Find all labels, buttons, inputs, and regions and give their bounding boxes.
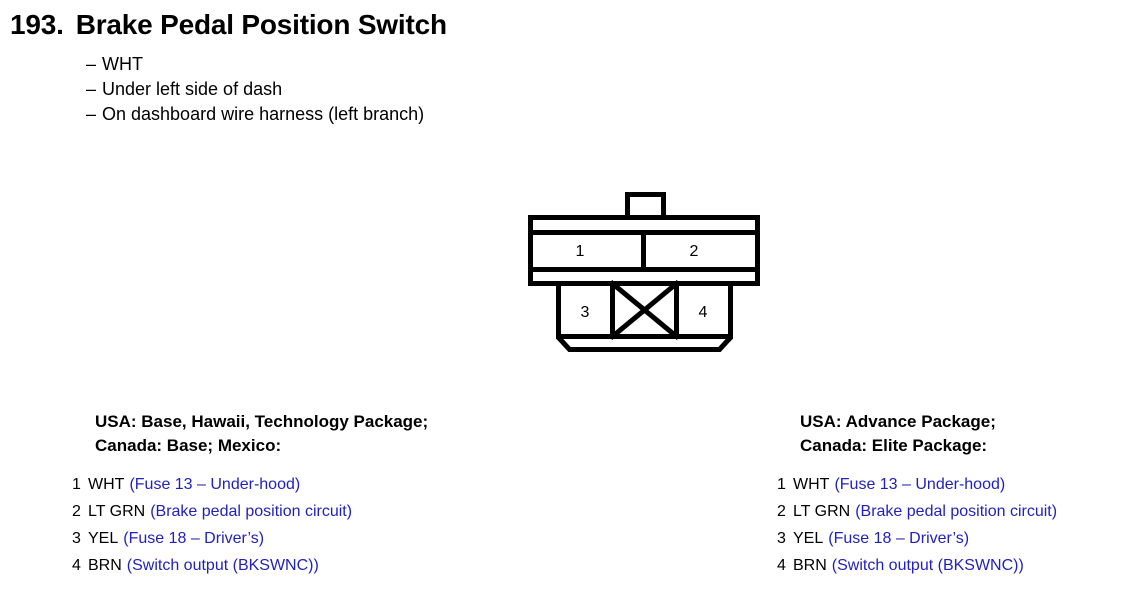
legend-heading-line: USA: Advance Package; (800, 410, 1057, 434)
bullet-dash-icon: – (86, 52, 102, 77)
pin-row: 1WHT(Fuse 13 – Under-hood) (72, 471, 428, 498)
pin-wire-color: BRN (793, 557, 827, 574)
pin-description: (Fuse 18 – Driver’s) (123, 530, 264, 547)
pin-wire-color: BRN (88, 557, 122, 574)
pin-description: (Brake pedal position circuit) (150, 503, 352, 520)
connector-diagram: 1 2 3 4 (505, 180, 785, 370)
connector-svg: 1 2 3 4 (505, 180, 785, 370)
pin-row: 2LT GRN(Brake pedal position circuit) (72, 498, 428, 525)
bullet-dash-icon: – (86, 77, 102, 102)
pin-description: (Switch output (BKSWNC)) (127, 557, 319, 574)
legend-heading-line: Canada: Base; Mexico: (95, 434, 428, 458)
legend-column-right: USA: Advance Package; Canada: Elite Pack… (777, 410, 1057, 579)
pin-wire-color: WHT (88, 476, 124, 493)
pin-description: (Fuse 18 – Driver’s) (828, 530, 969, 547)
pin-list-right: 1WHT(Fuse 13 – Under-hood) 2LT GRN(Brake… (777, 471, 1057, 579)
connector-pin-label-1: 1 (576, 243, 585, 260)
pin-wire-color: YEL (88, 530, 118, 547)
connector-locking-tab (628, 195, 664, 218)
pin-wire-color: LT GRN (793, 503, 850, 520)
pin-number: 1 (72, 471, 88, 498)
bullet-text: Under left side of dash (102, 79, 282, 99)
pin-number: 2 (72, 498, 88, 525)
diagram-page: 193.Brake Pedal Position Switch –WHT –Un… (0, 0, 1142, 590)
page-title-number: 193. (10, 9, 64, 40)
pin-number: 2 (777, 498, 793, 525)
pin-number: 3 (72, 525, 88, 552)
connector-pin-label-2: 2 (690, 243, 699, 260)
pin-number: 4 (72, 552, 88, 579)
list-item: –WHT (86, 52, 424, 77)
legend-heading-line: Canada: Elite Package: (800, 434, 1057, 458)
pin-row: 1WHT(Fuse 13 – Under-hood) (777, 471, 1057, 498)
pin-description: (Fuse 13 – Under-hood) (129, 476, 300, 493)
legend-column-left: USA: Base, Hawaii, Technology Package; C… (72, 410, 428, 579)
pin-row: 2LT GRN(Brake pedal position circuit) (777, 498, 1057, 525)
pin-row: 4BRN(Switch output (BKSWNC)) (777, 552, 1057, 579)
list-item: –Under left side of dash (86, 77, 424, 102)
bullet-text: On dashboard wire harness (left branch) (102, 104, 424, 124)
legend-heading-line: USA: Base, Hawaii, Technology Package; (95, 410, 428, 434)
pin-number: 4 (777, 552, 793, 579)
pin-row: 4BRN(Switch output (BKSWNC)) (72, 552, 428, 579)
bullet-text: WHT (102, 54, 143, 74)
pin-wire-color: YEL (793, 530, 823, 547)
pin-wire-color: LT GRN (88, 503, 145, 520)
connector-pin-label-3: 3 (581, 304, 590, 321)
pin-description: (Brake pedal position circuit) (855, 503, 1057, 520)
legend-heading-right: USA: Advance Package; Canada: Elite Pack… (800, 410, 1057, 458)
pin-description: (Fuse 13 – Under-hood) (834, 476, 1005, 493)
pin-number: 3 (777, 525, 793, 552)
bullet-dash-icon: – (86, 102, 102, 127)
pin-list-left: 1WHT(Fuse 13 – Under-hood) 2LT GRN(Brake… (72, 471, 428, 579)
page-title-text: Brake Pedal Position Switch (76, 9, 447, 40)
pin-row: 3YEL(Fuse 18 – Driver’s) (777, 525, 1057, 552)
connector-pin-label-4: 4 (699, 304, 708, 321)
header-bullet-list: –WHT –Under left side of dash –On dashbo… (86, 52, 424, 127)
legend-heading-left: USA: Base, Hawaii, Technology Package; C… (95, 410, 428, 458)
page-title: 193.Brake Pedal Position Switch (10, 8, 447, 42)
pin-wire-color: WHT (793, 476, 829, 493)
pin-row: 3YEL(Fuse 18 – Driver’s) (72, 525, 428, 552)
pin-description: (Switch output (BKSWNC)) (832, 557, 1024, 574)
pin-number: 1 (777, 471, 793, 498)
list-item: –On dashboard wire harness (left branch) (86, 102, 424, 127)
